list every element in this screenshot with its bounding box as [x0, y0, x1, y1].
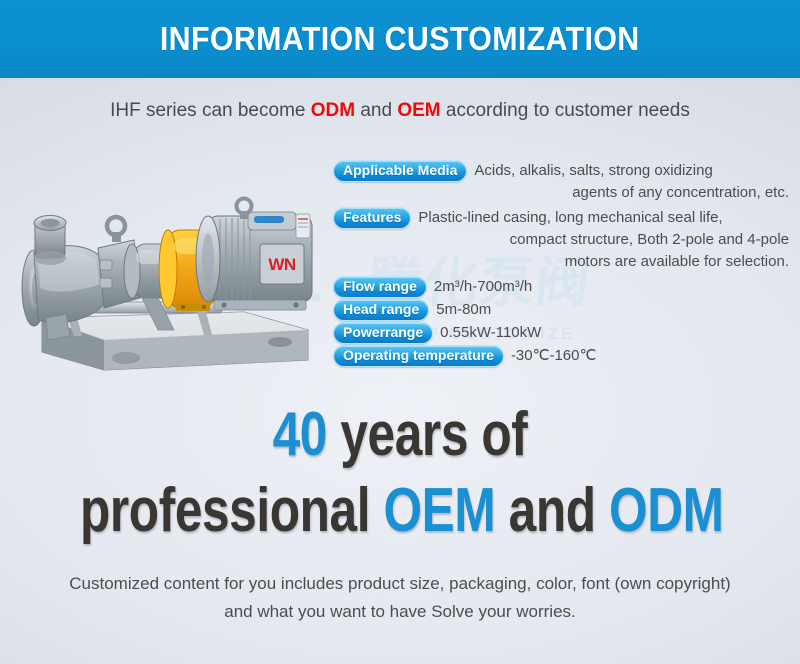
page-header: INFORMATION CUSTOMIZATION: [0, 0, 800, 78]
subtitle-highlight-odm: ODM: [311, 100, 355, 121]
spec-label-applicable-media: Applicable Media: [333, 160, 467, 182]
page-title: INFORMATION CUSTOMIZATION: [160, 20, 640, 58]
spec-value-line: Plastic-lined casing, long mechanical se…: [418, 207, 793, 229]
spec-label-operating-temperature: Operating temperature: [333, 345, 504, 367]
spec-row-operating-temperature: Operating temperature -30℃-160℃: [333, 345, 793, 367]
spec-value-operating-temperature: -30℃-160℃: [511, 345, 793, 367]
spec-row-applicable-media: Applicable Media Acids, alkalis, salts, …: [333, 160, 793, 204]
spec-value-applicable-media: Acids, alkalis, salts, strong oxidizing …: [474, 160, 793, 204]
spec-list: Applicable Media Acids, alkalis, salts, …: [333, 160, 793, 368]
spec-label-head-range: Head range: [333, 299, 429, 321]
spec-value-features: Plastic-lined casing, long mechanical se…: [418, 207, 793, 273]
headline-line-2-a: professional: [80, 476, 384, 545]
spec-value-power-range: 0.55kW-110kW: [440, 322, 793, 344]
headline-line-2-b: and: [495, 476, 609, 545]
footer-paragraph: Customized content for you includes prod…: [0, 570, 800, 626]
subtitle-highlight-oem: OEM: [397, 100, 440, 121]
subtitle-part1: IHF series can become: [110, 100, 311, 121]
headline-odm: ODM: [609, 476, 724, 545]
spec-value-line: compact structure, Both 2-pole and 4-pol…: [418, 229, 793, 251]
subtitle-line: IHF series can become ODM and OEM accord…: [0, 100, 800, 122]
spec-value-head-range: 5m-80m: [436, 299, 793, 321]
product-image-pump: WN: [8, 190, 338, 400]
spec-label-flow-range: Flow range: [333, 276, 427, 298]
spec-row-power-range: Powerrange 0.55kW-110kW: [333, 322, 793, 344]
headline: 40 years of professional OEM and ODM: [0, 404, 800, 542]
subtitle-part3: according to customer needs: [441, 100, 690, 121]
svg-text:WN: WN: [268, 255, 296, 274]
promo-banner-page: INFORMATION CUSTOMIZATION IHF series can…: [0, 0, 800, 664]
spec-row-features: Features Plastic-lined casing, long mech…: [333, 207, 793, 273]
headline-number: 40: [273, 400, 327, 469]
spec-value-flow-range: 2m³/h-700m³/h: [434, 276, 793, 298]
spec-value-line: Acids, alkalis, salts, strong oxidizing: [474, 160, 793, 182]
subtitle-part2: and: [355, 100, 397, 121]
spec-value-line: agents of any concentration, etc.: [474, 182, 793, 204]
footer-line-1: Customized content for you includes prod…: [0, 570, 800, 598]
spec-row-flow-range: Flow range 2m³/h-700m³/h: [333, 276, 793, 298]
headline-line-2: professional OEM and ODM: [80, 480, 720, 542]
spec-value-line: motors are available for selection.: [418, 251, 793, 273]
headline-oem: OEM: [384, 476, 496, 545]
spec-label-power-range: Powerrange: [333, 322, 433, 344]
spec-label-features: Features: [333, 207, 411, 229]
footer-line-2: and what you want to have Solve your wor…: [0, 598, 800, 626]
spec-row-head-range: Head range 5m-80m: [333, 299, 793, 321]
headline-line-1-rest: years of: [327, 400, 527, 469]
headline-line-1: 40 years of: [80, 404, 720, 466]
